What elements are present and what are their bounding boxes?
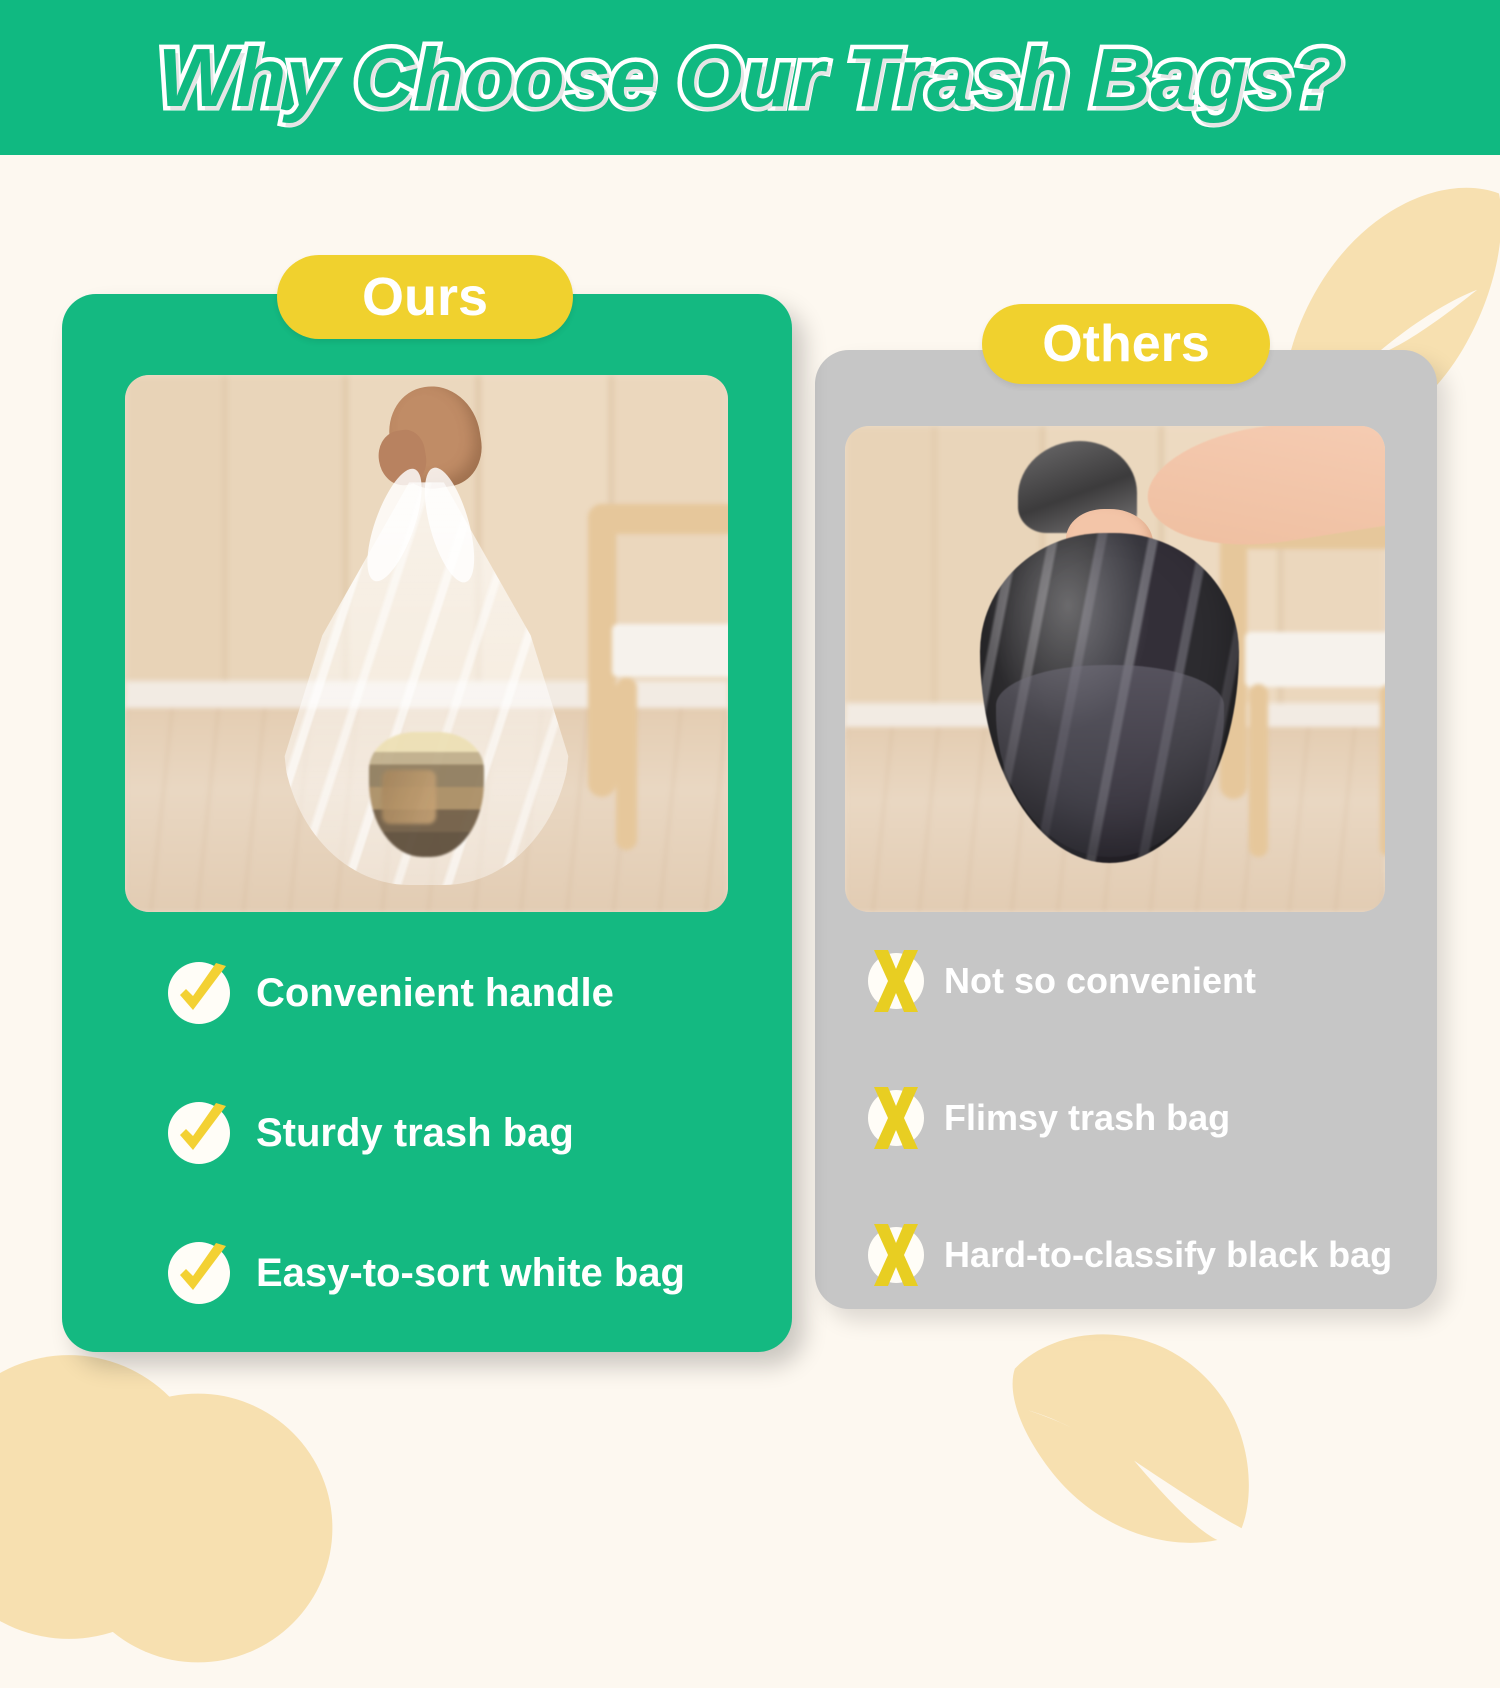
list-item: Sturdy trash bag [168,1078,768,1188]
others-photo-scene [845,426,1385,912]
feature-label: Easy-to-sort white bag [256,1253,685,1293]
list-item: Flimsy trash bag [868,1065,1468,1170]
check-icon [168,1242,230,1304]
ours-photo-scene [125,375,728,912]
badge-ours-label: Ours [362,266,488,328]
check-icon [168,962,230,1024]
list-item: Hard-to-classify black bag [868,1202,1468,1307]
trash-contents [369,732,485,857]
others-product-photo [845,426,1385,912]
photo-chair [571,504,728,837]
leaf-bottom-left-front-icon [38,1368,358,1688]
others-feature-list: Not so convenient Flimsy trash bag Hard-… [868,928,1468,1308]
badge-others-label: Others [1042,314,1210,374]
cross-icon [868,1090,924,1146]
check-icon [168,1102,230,1164]
badge-ours: Ours [277,255,573,339]
cross-icon [868,1227,924,1283]
badge-others: Others [982,304,1270,384]
photo-chair [1212,523,1385,844]
header-banner: Why Choose Our Trash Bags? [0,0,1500,155]
ours-feature-list: Convenient handle Sturdy trash bag Easy-… [168,938,768,1331]
ours-product-photo [125,375,728,912]
list-item: Convenient handle [168,938,768,1048]
feature-label: Sturdy trash bag [256,1113,574,1153]
feature-label: Not so convenient [944,963,1256,999]
feature-label: Flimsy trash bag [944,1100,1230,1136]
leaf-bottom-center-icon [993,1292,1261,1571]
page-title: Why Choose Our Trash Bags? [158,36,1343,119]
list-item: Easy-to-sort white bag [168,1218,768,1328]
cross-icon [868,953,924,1009]
feature-label: Convenient handle [256,973,614,1013]
feature-label: Hard-to-classify black bag [944,1237,1392,1273]
list-item: Not so convenient [868,928,1468,1033]
leaf-bottom-left-back-icon [0,1332,234,1662]
